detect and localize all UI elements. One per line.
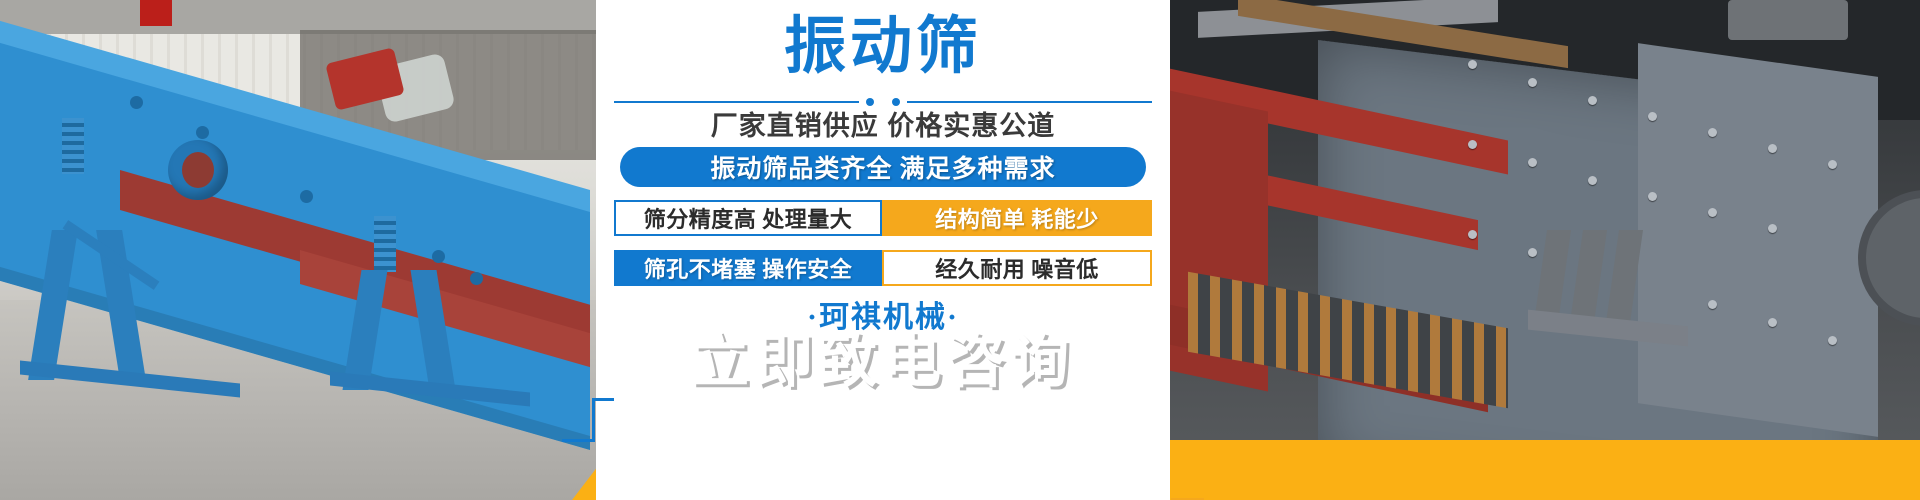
bolt-head [1588,176,1597,185]
divider-line-left [614,101,859,103]
bolt-head [1528,248,1537,257]
bolt-head [1768,318,1777,327]
bolt-head [1648,112,1657,121]
bolt-head [1468,60,1477,69]
center-text-panel: 振动筛 厂家直销供应 价格实惠公道 振动筛品类齐全 满足多种需求 筛分精度高 处… [596,0,1170,500]
feature-1-left: 筛分精度高 处理量大 [614,200,882,236]
promo-banner: 振动筛 厂家直销供应 价格实惠公道 振动筛品类齐全 满足多种需求 筛分精度高 处… [0,0,1920,500]
exciter-drum [168,140,228,200]
frame-bolt-hole [470,272,483,285]
page-title: 振动筛 [596,16,1170,78]
product-photo-right [1168,0,1920,500]
connector-elbow-left-icon [584,398,614,444]
feature-row-1: 筛分精度高 处理量大 结构简单 耗能少 [614,200,1152,236]
bolt-head [1468,140,1477,149]
bolt-head [1528,78,1537,87]
product-photo-left [0,0,596,500]
warehouse-ceiling [0,0,596,34]
bolt-head [1588,96,1597,105]
wall-sign [140,0,172,26]
bolt-head [1708,128,1717,137]
bolt-head [1768,224,1777,233]
highlight-pill: 振动筛品类齐全 满足多种需求 [620,147,1146,187]
feature-2-right: 经久耐用 噪音低 [882,250,1152,286]
feature-row-2: 筛孔不堵塞 操作安全 经久耐用 噪音低 [614,250,1152,286]
side-plate [1638,43,1878,437]
bolt-head [1828,336,1837,345]
subtitle: 厂家直销供应 价格实惠公道 [596,104,1170,143]
divider-line-right [907,101,1152,103]
frame-bolt-hole [300,190,313,203]
bolt-head [1708,208,1717,217]
bolt-head [1468,230,1477,239]
feature-1-right: 结构简单 耗能少 [882,200,1152,236]
support-spring [374,216,396,272]
bolt-head [1528,158,1537,167]
bolt-head [1768,144,1777,153]
bolt-head [1648,192,1657,201]
support-spring [62,118,84,174]
frame-bolt-hole [196,126,209,139]
cta-text[interactable]: 立即致电咨询 [596,330,1170,394]
feature-2-left: 筛孔不堵塞 操作安全 [614,250,882,286]
bolt-head [1828,160,1837,169]
frame-bolt-hole [130,96,143,109]
bolt-head [1708,300,1717,309]
frame-bolt-hole [432,250,445,263]
drive-motor [1728,0,1848,40]
